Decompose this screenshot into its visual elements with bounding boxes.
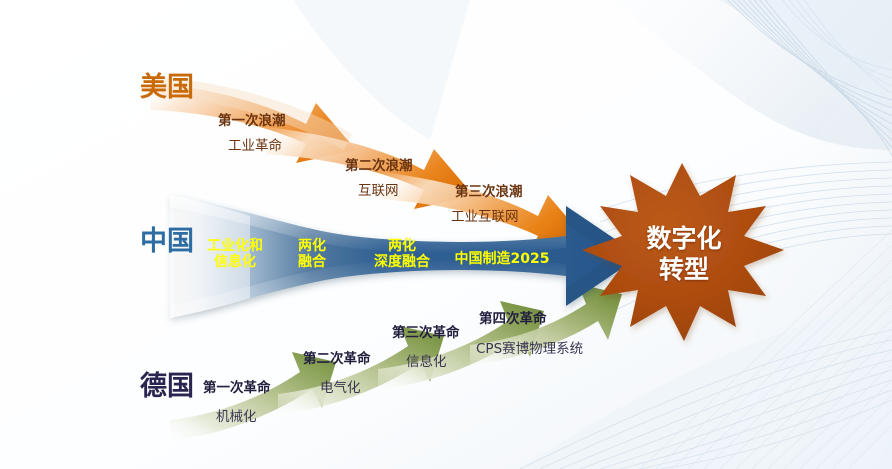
cn-stage-3-line2: 深度融合 xyxy=(359,254,445,270)
country-label-cn: 中国 xyxy=(140,228,174,256)
cn-stage-4-label: 中国制造2025 xyxy=(444,251,560,267)
diagram-canvas: 美国 中国 德国 第一次浪潮 工业革命 第二次浪潮 互联网 第三次浪潮 工业互联… xyxy=(0,0,892,469)
country-label-us: 美国 xyxy=(140,74,174,102)
de-stage-4-title: 第四次革命 xyxy=(479,312,547,327)
cn-stage-2-label: 两化 融合 xyxy=(281,238,343,270)
us-stage-3-subtitle: 工业互联网 xyxy=(451,210,519,225)
cn-stage-1-line2: 信息化 xyxy=(193,254,277,270)
cn-stage-1-line1: 工业化和 xyxy=(193,238,277,254)
cn-stage-3-line1: 两化 xyxy=(359,238,445,254)
de-stage-1-title: 第一次革命 xyxy=(203,381,271,396)
us-stage-2-title: 第二次浪潮 xyxy=(345,159,413,174)
de-stage-4-subtitle: CPS赛博物理系统 xyxy=(476,342,583,357)
us-stage-2-subtitle: 互联网 xyxy=(358,184,399,199)
de-stage-1-subtitle: 机械化 xyxy=(216,410,257,425)
us-stage-3-title: 第三次浪潮 xyxy=(455,185,523,200)
country-label-de: 德国 xyxy=(140,373,174,401)
cn-stage-2-line2: 融合 xyxy=(281,254,343,270)
outcome-line-1: 数字化 xyxy=(584,224,784,255)
de-stage-3-subtitle: 信息化 xyxy=(406,355,447,370)
de-stage-3-title: 第三次革命 xyxy=(392,326,460,341)
outcome-line-2: 转型 xyxy=(584,255,784,286)
cn-stage-2-line1: 两化 xyxy=(281,238,343,254)
de-stage-2-subtitle: 电气化 xyxy=(320,381,361,396)
cn-stage-3-label: 两化 深度融合 xyxy=(359,238,445,270)
de-stage-2-title: 第二次革命 xyxy=(303,352,371,367)
us-stage-1-subtitle: 工业革命 xyxy=(228,139,282,154)
cn-stage-1-label: 工业化和 信息化 xyxy=(193,238,277,270)
us-stage-1-title: 第一次浪潮 xyxy=(218,114,286,129)
outcome-label: 数字化 转型 xyxy=(584,224,784,285)
